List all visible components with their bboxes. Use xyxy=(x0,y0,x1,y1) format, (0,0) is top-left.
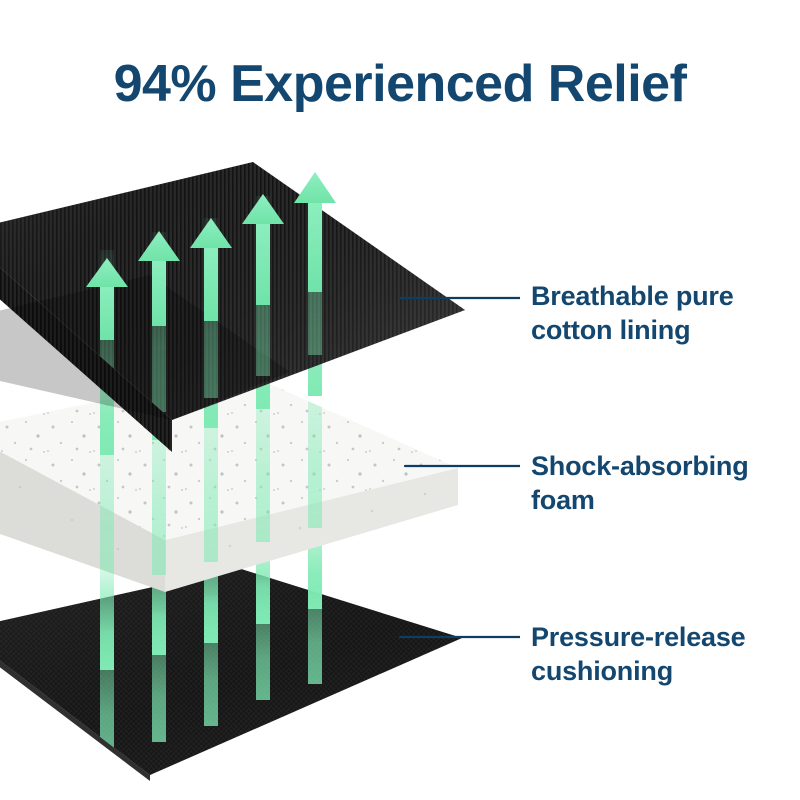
bottom-layer-sheen xyxy=(0,568,462,775)
callout-line: cushioning xyxy=(531,654,800,688)
callout-label-top-layer: Breathable pure cotton lining xyxy=(531,279,800,347)
callout-line: Shock-absorbing xyxy=(531,449,800,483)
layer-middle-shock-absorbing-foam xyxy=(0,372,458,592)
callout-line: foam xyxy=(531,483,800,517)
layer-bottom-pressure-release-cushioning xyxy=(0,568,462,781)
callout-label-middle-layer: Shock-absorbing foam xyxy=(531,449,800,517)
callout-line: cotton lining xyxy=(531,313,800,347)
callout-label-bottom-layer: Pressure-release cushioning xyxy=(531,620,800,688)
product-feature-infographic: 94% Experienced Relief xyxy=(0,0,800,800)
callout-line: Breathable pure xyxy=(531,279,800,313)
callout-line: Pressure-release xyxy=(531,620,800,654)
